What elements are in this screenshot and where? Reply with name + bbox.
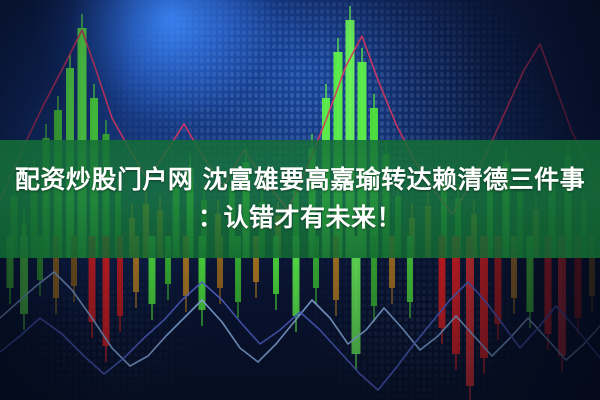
banner-image: 配资炒股门户网 沈富雄要高嘉瑜转达赖清德三件事 ：认错才有未来！ bbox=[0, 0, 600, 400]
caption-block: 配资炒股门户网 沈富雄要高嘉瑜转达赖清德三件事 ：认错才有未来！ bbox=[0, 140, 600, 258]
caption-line-1: 配资炒股门户网 沈富雄要高嘉瑜转达赖清德三件事 bbox=[15, 161, 585, 199]
caption-line-2: ：认错才有未来！ bbox=[198, 199, 402, 237]
